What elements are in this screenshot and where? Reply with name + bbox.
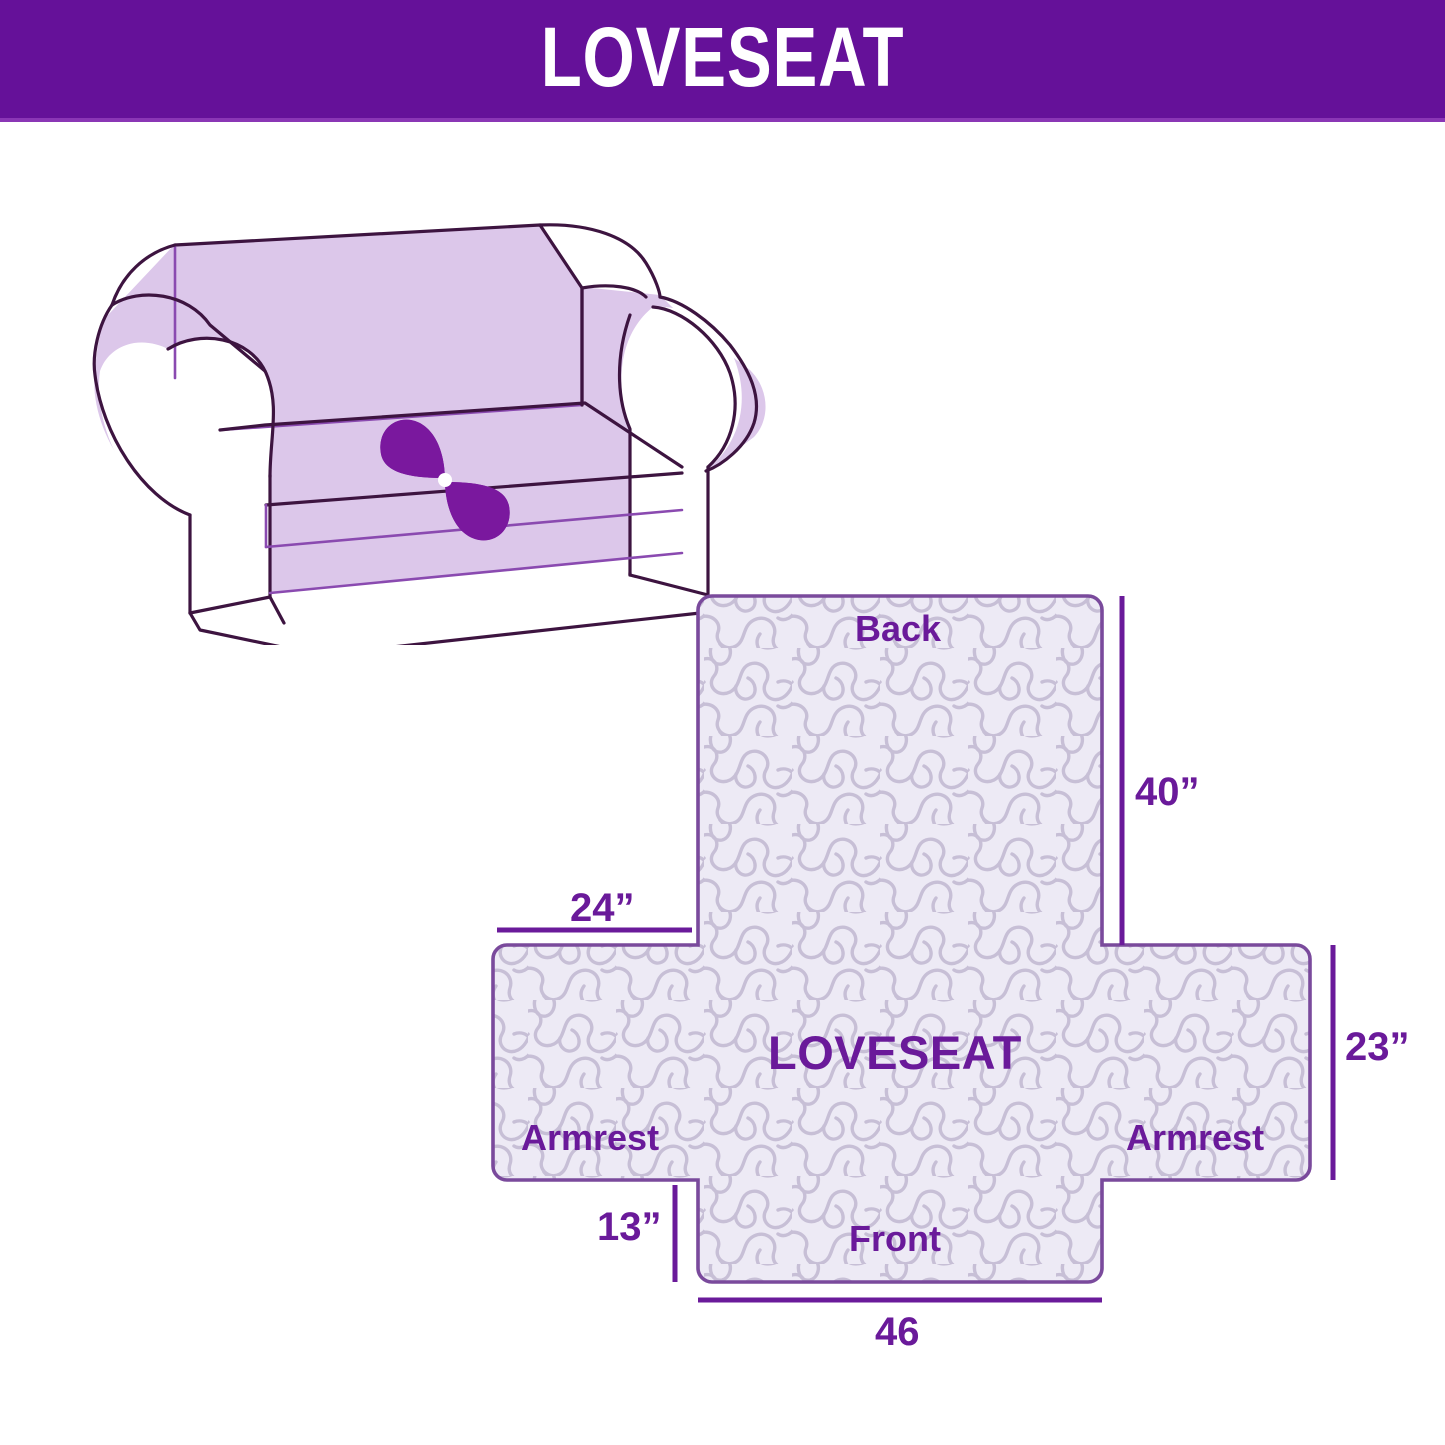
dimension-label-23: 23” bbox=[1345, 1025, 1410, 1070]
header-banner: LOVESEAT bbox=[0, 0, 1445, 122]
dimension-label-13: 13” bbox=[597, 1205, 662, 1250]
loveseat-cover-cross-diagram: .cover-shape { fill: url(#quilt); stroke… bbox=[440, 560, 1445, 1445]
page-title: LOVESEAT bbox=[145, 0, 1301, 118]
dimension-label-46: 46 bbox=[875, 1310, 920, 1355]
dimension-label-40: 40” bbox=[1135, 770, 1200, 815]
cover-cross-shape bbox=[493, 596, 1310, 1282]
dimension-label-24: 24” bbox=[570, 886, 635, 931]
part-label-armrest-left: Armrest bbox=[521, 1117, 659, 1159]
part-label-center: LOVESEAT bbox=[768, 1025, 1022, 1080]
part-label-armrest-right: Armrest bbox=[1126, 1117, 1264, 1159]
product-dimension-infographic: LOVESEAT .sofa-fill { fill: #dcc7ea; } .… bbox=[0, 0, 1445, 1445]
part-label-back: Back bbox=[855, 608, 941, 650]
part-label-front: Front bbox=[849, 1218, 941, 1260]
